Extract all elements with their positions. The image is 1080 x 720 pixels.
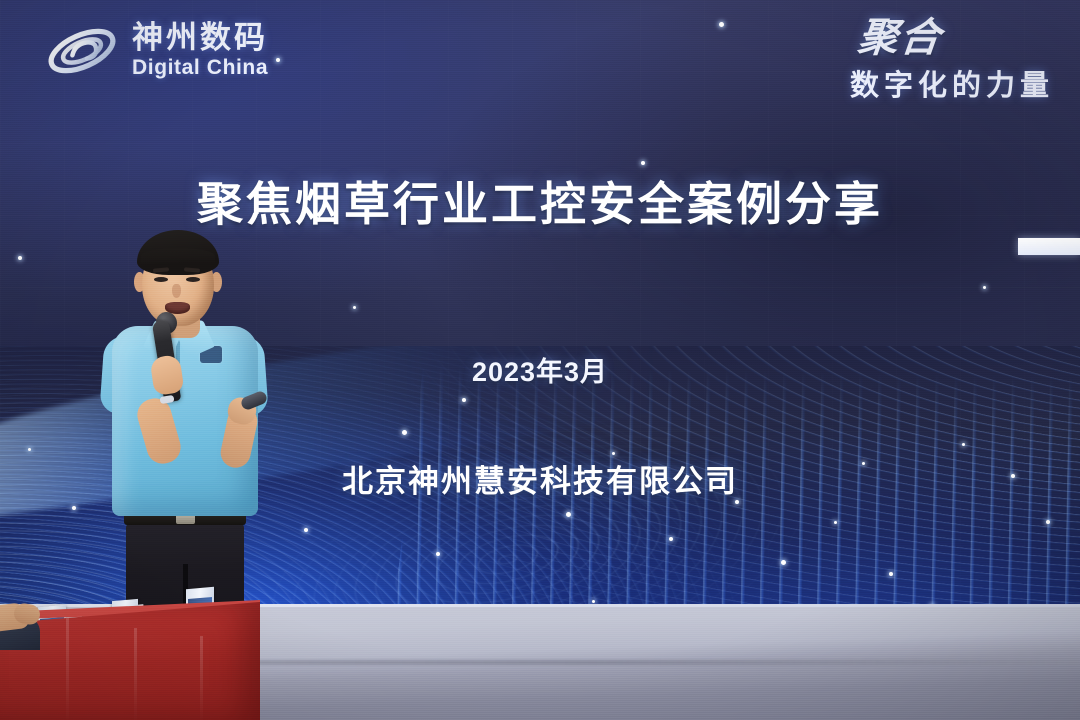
event-slogan: 聚合 数字化的力量 [850, 18, 1054, 104]
slogan-calligraphy: 聚合 [848, 18, 944, 58]
presenter-eye-right [186, 277, 200, 282]
digital-china-logo: 神州数码 Digital China [44, 18, 268, 84]
led-edge-element [1018, 238, 1080, 255]
brand-wordmark: 神州数码 Digital China [132, 22, 268, 80]
presenter-eye-left [154, 277, 168, 282]
presenter [96, 228, 274, 628]
brand-name-cn: 神州数码 [132, 22, 268, 53]
audience-table [0, 588, 260, 720]
brand-name-en: Digital China [132, 57, 268, 78]
presenter-hair [137, 230, 219, 275]
seated-attendee [0, 594, 46, 650]
slide-title: 聚焦烟草行业工控安全案例分享 [0, 180, 1080, 228]
spiral-galaxy-icon [44, 18, 120, 84]
conference-photo: 神州数码 Digital China 聚合 数字化的力量 聚焦烟草行业工控安全案… [0, 0, 1080, 720]
presenter-nose [172, 284, 181, 298]
slogan-subtitle: 数字化的力量 [850, 62, 1054, 104]
